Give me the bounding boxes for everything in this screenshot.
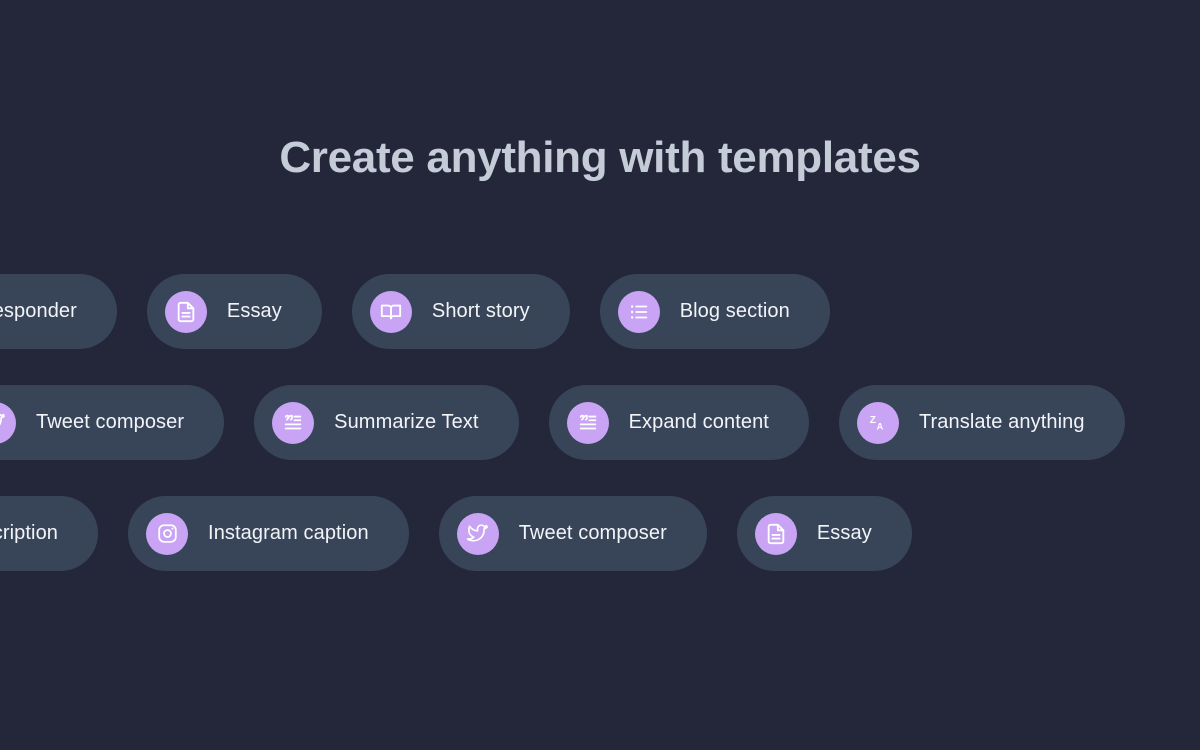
template-pill[interactable]: Z A Translate anything [839, 385, 1125, 460]
template-label: Summarize Text [334, 411, 478, 434]
text-quote-icon [567, 402, 609, 444]
template-label: Job description [0, 522, 58, 545]
instagram-icon [146, 513, 188, 555]
template-label: Translate anything [919, 411, 1085, 434]
svg-text:Z: Z [870, 415, 876, 426]
twitter-icon [0, 402, 16, 444]
translate-icon: Z A [857, 402, 899, 444]
template-pill[interactable]: Essay [147, 274, 322, 349]
template-pill[interactable]: Email Responder [0, 274, 117, 349]
template-row: Job description Instagram caption [0, 496, 1200, 571]
templates-showcase: Create anything with templates Email Res… [0, 0, 1200, 750]
list-icon [618, 291, 660, 333]
template-label: Tweet composer [519, 522, 667, 545]
svg-text:A: A [877, 421, 884, 431]
template-label: Blog section [680, 300, 790, 323]
template-label: Short story [432, 300, 530, 323]
template-pill[interactable]: Instagram caption [128, 496, 409, 571]
template-rows: Email Responder Essay [0, 274, 1200, 607]
template-label: Tweet composer [36, 411, 184, 434]
page-title: Create anything with templates [0, 133, 1200, 183]
template-label: Essay [227, 300, 282, 323]
template-pill[interactable]: Expand content [549, 385, 809, 460]
template-pill[interactable]: Blog section [600, 274, 830, 349]
template-label: Essay [817, 522, 872, 545]
text-quote-icon [272, 402, 314, 444]
document-icon [165, 291, 207, 333]
template-pill[interactable]: Tweet composer [439, 496, 707, 571]
template-label: Instagram caption [208, 522, 369, 545]
template-pill[interactable]: Job description [0, 496, 98, 571]
template-pill[interactable]: Tweet composer [0, 385, 224, 460]
template-pill[interactable]: Essay [737, 496, 912, 571]
template-row: Email Responder Essay [0, 274, 1200, 349]
template-pill[interactable]: Short story [352, 274, 570, 349]
template-row: Tweet composer Summarize Text [0, 385, 1200, 460]
template-pill[interactable]: Summarize Text [254, 385, 518, 460]
template-label: Expand content [629, 411, 769, 434]
template-label: Email Responder [0, 300, 77, 323]
twitter-icon [457, 513, 499, 555]
book-icon [370, 291, 412, 333]
document-icon [755, 513, 797, 555]
